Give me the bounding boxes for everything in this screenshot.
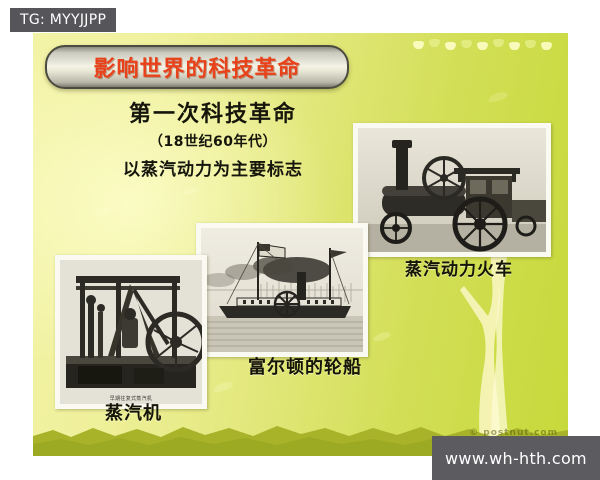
caption-steam-engine: 蒸汽机 xyxy=(105,399,162,425)
petal-decoration-row xyxy=(413,39,563,55)
heading-main: 第一次科技革命 xyxy=(88,101,338,129)
petal-icon xyxy=(541,42,552,50)
heading-marker: 以蒸汽动力为主要标志 xyxy=(88,155,338,180)
tg-handle-badge: TG: MYYJJPP xyxy=(10,8,116,32)
petal-icon xyxy=(413,41,424,49)
photo-steam-engine-canvas: 早期往复式蒸汽机 xyxy=(60,260,202,404)
presentation-slide: 影响世界的科技革命 第一次科技革命 （18世纪60年代） 以蒸汽动力为主要标志 xyxy=(33,33,568,456)
leaf-icon xyxy=(92,205,111,217)
leaf-icon xyxy=(487,90,508,104)
petal-icon xyxy=(477,42,488,50)
photo-steam-train xyxy=(353,123,551,257)
slide-title-text: 影响世界的科技革命 xyxy=(93,51,300,83)
leaf-icon xyxy=(372,330,391,342)
petal-icon xyxy=(445,42,456,50)
tg-handle-text: TG: MYYJJPP xyxy=(20,12,106,28)
caption-steam-train: 蒸汽动力火车 xyxy=(405,255,513,280)
site-url-text: www.wh-hth.com xyxy=(445,449,587,468)
photo-steam-train-canvas xyxy=(358,128,546,252)
petal-icon xyxy=(525,40,536,48)
leaf-icon xyxy=(212,380,233,394)
slide-title-banner: 影响世界的科技革命 xyxy=(45,45,349,89)
heading-block: 第一次科技革命 （18世纪60年代） 以蒸汽动力为主要标志 xyxy=(88,101,338,180)
leaf-icon xyxy=(182,186,199,197)
photo-steam-engine: 早期往复式蒸汽机 xyxy=(55,255,207,409)
photo-fulton-steamboat-canvas xyxy=(201,228,363,352)
screenshot-canvas: 影响世界的科技革命 第一次科技革命 （18世纪60年代） 以蒸汽动力为主要标志 xyxy=(0,0,600,480)
petal-icon xyxy=(461,40,472,48)
petal-icon xyxy=(509,42,520,50)
site-url-bar: www.wh-hth.com xyxy=(432,436,600,480)
petal-icon xyxy=(493,39,504,47)
petal-icon xyxy=(429,39,440,47)
caption-fulton-steamboat: 富尔顿的轮船 xyxy=(248,353,362,379)
photo-fulton-steamboat xyxy=(196,223,368,357)
heading-period: （18世纪60年代） xyxy=(88,131,338,151)
